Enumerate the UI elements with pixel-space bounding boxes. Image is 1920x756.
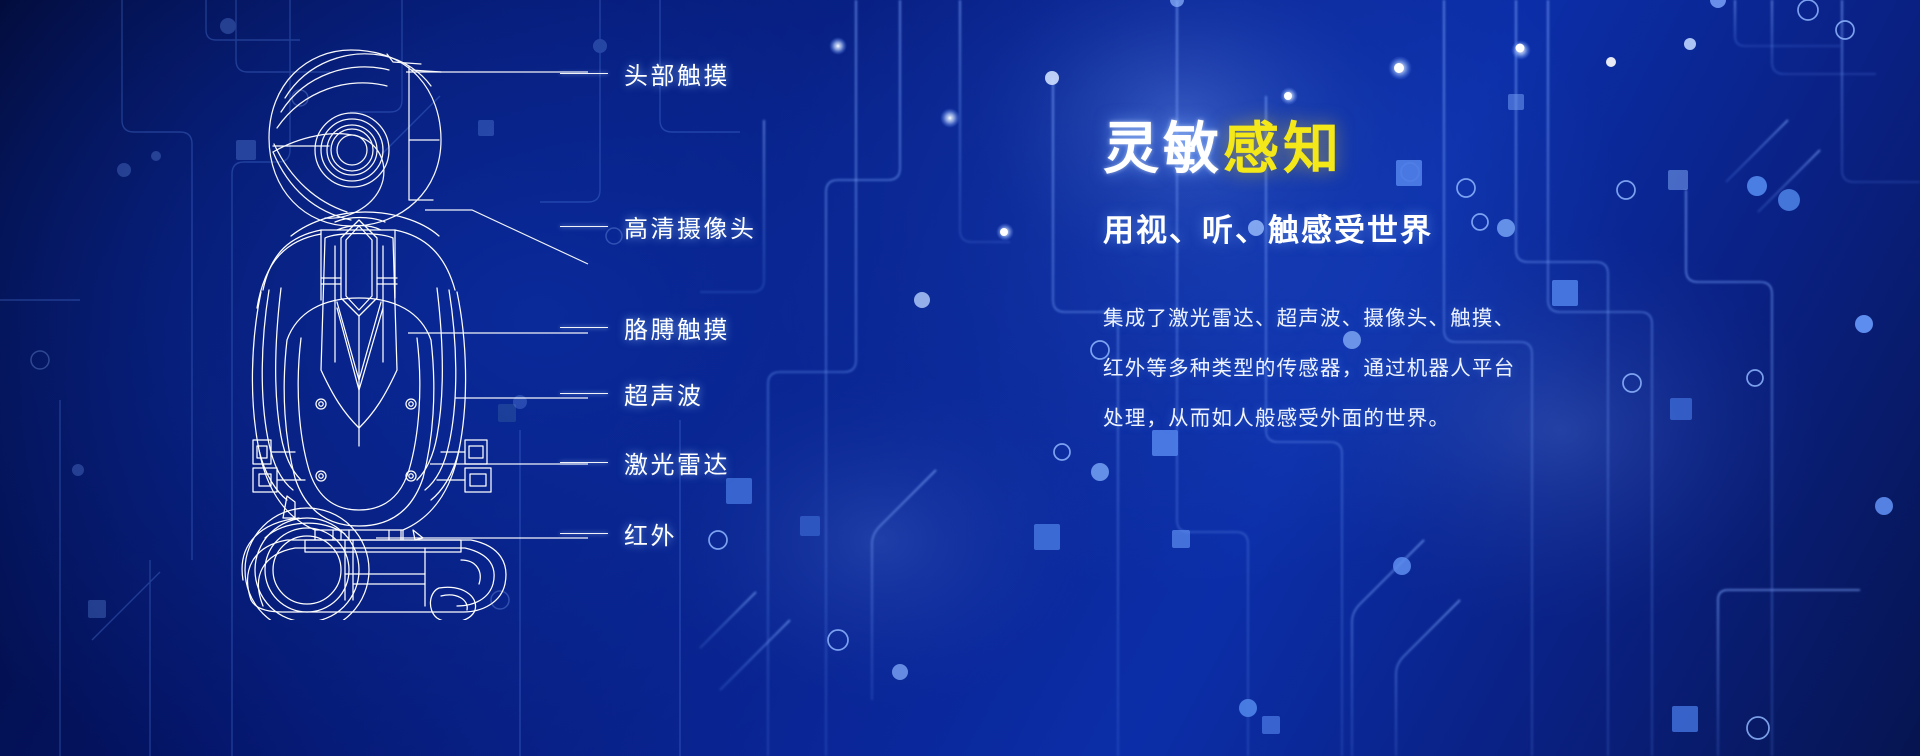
callout-lidar[interactable]: 激光雷达	[560, 447, 730, 477]
body-paragraph: 集成了激光雷达、超声波、摄像头、触摸、 红外等多种类型的传感器，通过机器人平台 …	[1103, 294, 1533, 445]
leader-line-icon	[560, 462, 608, 463]
paragraph-line: 处理，从而如人般感受外面的世界。	[1103, 394, 1533, 444]
leader-line-icon	[560, 533, 608, 534]
callout-label: 胳膊触摸	[624, 310, 730, 345]
callout-ultrasonic[interactable]: 超声波	[560, 378, 704, 408]
callout-arm-touch[interactable]: 胳膊触摸	[560, 312, 730, 342]
callout-label: 高清摄像头	[624, 209, 757, 244]
leader-line-icon	[560, 226, 608, 227]
callout-infrared[interactable]: 红外	[560, 518, 677, 548]
callout-label: 激光雷达	[624, 445, 730, 480]
callout-label: 超声波	[624, 376, 704, 411]
headline-white-part: 灵敏	[1103, 117, 1223, 180]
paragraph-line: 红外等多种类型的传感器，通过机器人平台	[1103, 344, 1533, 394]
callout-head-touch[interactable]: 头部触摸	[560, 58, 730, 88]
page-subtitle: 用视、听、触感受世界	[1103, 205, 1623, 250]
sensing-banner: 头部触摸 高清摄像头 胳膊触摸 超声波 激光雷达 红外 灵敏感知 用视、听、触感…	[0, 0, 1920, 756]
callout-label: 头部触摸	[624, 56, 730, 91]
headline-yellow-part: 感知	[1223, 117, 1343, 180]
leader-line-icon	[560, 73, 608, 74]
leader-line-icon	[560, 327, 608, 328]
callout-label: 红外	[624, 516, 677, 551]
copy-block: 灵敏感知 用视、听、触感受世界 集成了激光雷达、超声波、摄像头、触摸、 红外等多…	[1103, 118, 1623, 444]
page-title: 灵敏感知	[1103, 118, 1623, 181]
paragraph-line: 集成了激光雷达、超声波、摄像头、触摸、	[1103, 294, 1533, 344]
callout-link-lines	[0, 0, 1920, 756]
leader-line-icon	[560, 393, 608, 394]
callout-hd-camera[interactable]: 高清摄像头	[560, 211, 757, 241]
